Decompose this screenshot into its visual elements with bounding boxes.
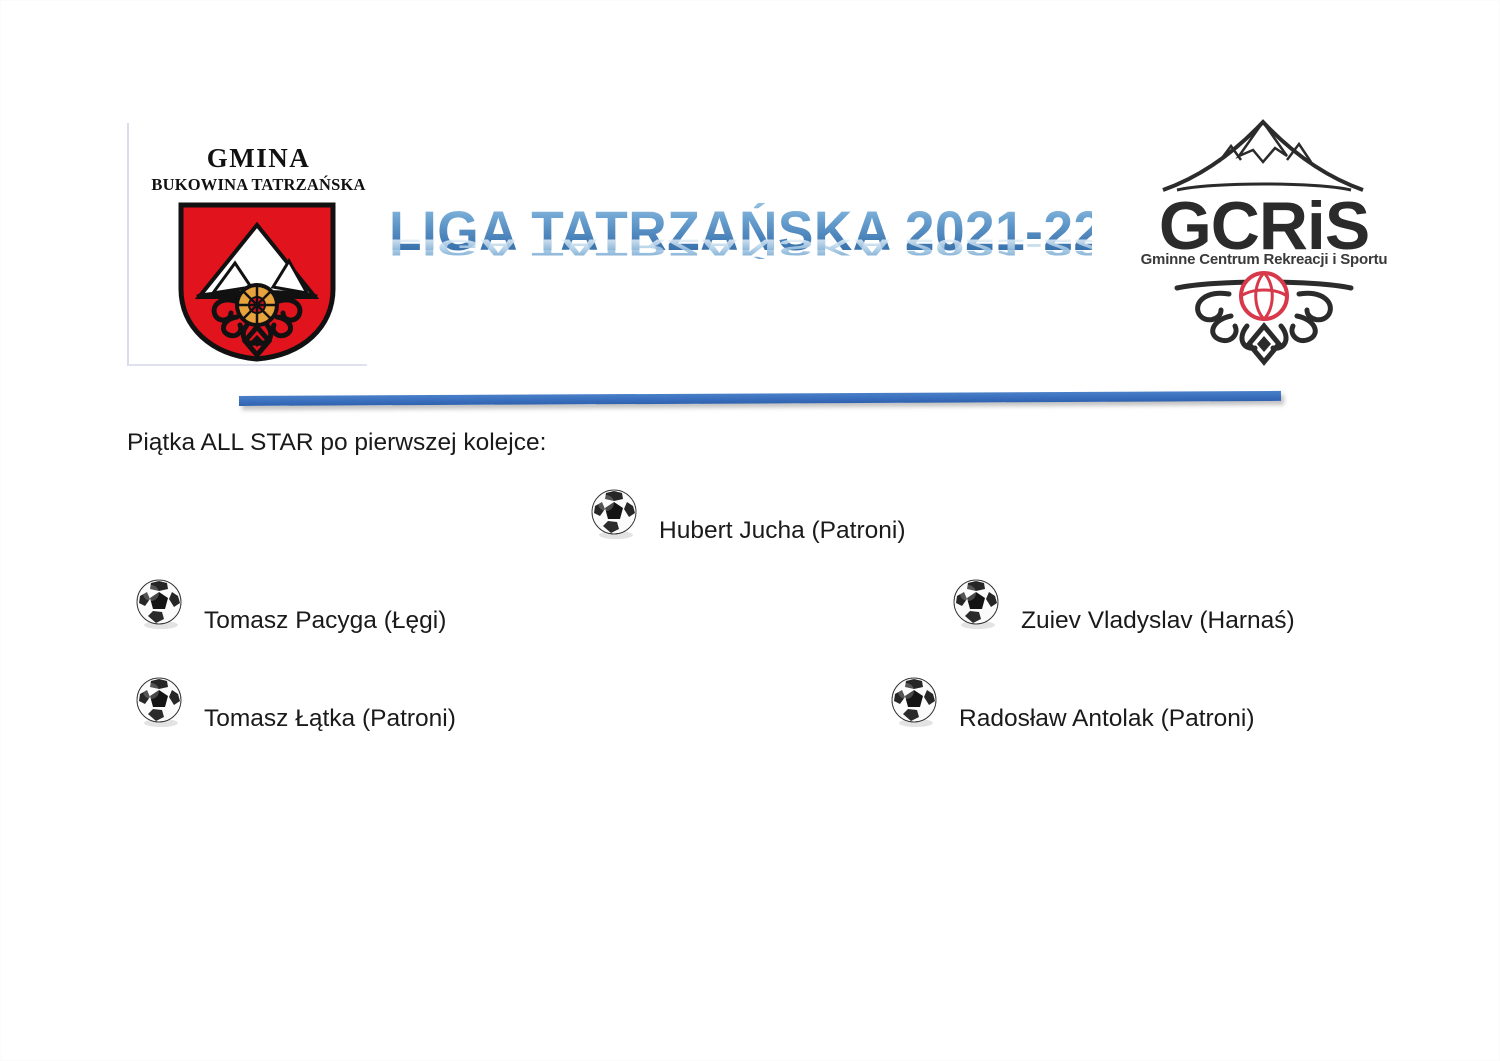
page-title: LIGA TATRZAŃSKA 2021-22 LIGA TATRZAŃSKA …	[389, 197, 1129, 327]
gmina-logo-line1: GMINA	[151, 145, 366, 172]
highlander-ornament-icon	[1167, 268, 1361, 366]
player-name: Tomasz Łątka (Patroni)	[204, 707, 456, 732]
list-item: Tomasz Łątka (Patroni)	[134, 673, 456, 732]
gmina-bukowina-tatrzanska-logo: GMINA BUKOWINA TATRZAŃSKA	[151, 129, 366, 364]
soccer-ball-icon	[889, 676, 941, 728]
gcris-logo: GCRiS Gminne Centrum Rekreacji i Sportu	[1139, 116, 1389, 366]
intro-text: Piątka ALL STAR po pierwszej kolejce:	[127, 429, 546, 457]
gmina-logo-line2: BUKOWINA TATRZAŃSKA	[151, 177, 366, 194]
soccer-ball-icon	[951, 578, 1003, 630]
player-name: Radosław Antolak (Patroni)	[959, 707, 1255, 732]
page-title-reflection: LIGA TATRZAŃSKA 2021-22	[389, 235, 1092, 259]
gcris-wordmark: GCRiS	[1139, 192, 1389, 260]
soccer-ball-icon	[134, 578, 186, 630]
document-page: GMINA BUKOWINA TATRZAŃSKA	[0, 0, 1500, 1061]
list-item: Tomasz Pacyga (Łęgi)	[134, 575, 446, 634]
soccer-ball-icon	[134, 676, 186, 728]
document-header: GMINA BUKOWINA TATRZAŃSKA	[1, 1, 1500, 381]
list-item: Hubert Jucha (Patroni)	[589, 485, 905, 544]
mountain-peak-icon	[1157, 116, 1371, 194]
list-item: Zuiev Vladyslav (Harnaś)	[951, 575, 1295, 634]
header-divider-bar	[239, 391, 1281, 406]
coat-of-arms-icon	[177, 201, 337, 363]
gcris-subtitle: Gminne Centrum Rekreacji i Sportu	[1139, 252, 1389, 267]
soccer-ball-icon	[589, 488, 641, 540]
player-name: Tomasz Pacyga (Łęgi)	[204, 609, 446, 634]
list-item: Radosław Antolak (Patroni)	[889, 673, 1255, 732]
player-name: Hubert Jucha (Patroni)	[659, 519, 905, 544]
player-name: Zuiev Vladyslav (Harnaś)	[1021, 609, 1295, 634]
